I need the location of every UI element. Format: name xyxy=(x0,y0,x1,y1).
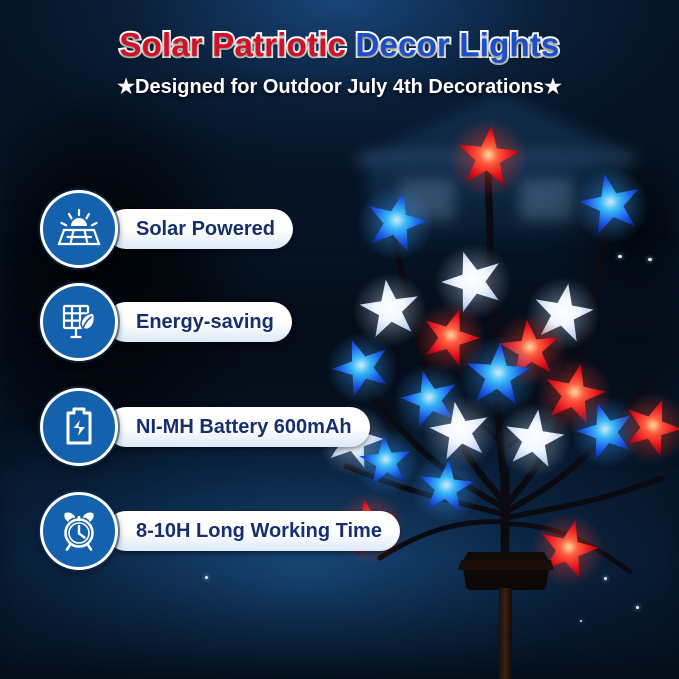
feature-label-pill: Energy-saving xyxy=(106,302,292,342)
feature-badge-working-time[interactable]: 8-10H Long Working Time xyxy=(40,492,400,570)
feature-label-text: Energy-saving xyxy=(136,311,274,334)
star-light-red xyxy=(448,118,528,198)
feature-badge-solar-powered[interactable]: Solar Powered xyxy=(40,190,293,268)
star-light-blue xyxy=(411,453,481,523)
feature-label-text: Solar Powered xyxy=(136,218,275,241)
star-light-tree-product xyxy=(318,110,679,679)
solar-panel-base xyxy=(458,552,554,590)
title-red-part: Solar Patriotic xyxy=(119,26,346,63)
product-marketing-image: Solar Patriotic Decor Lights ★Designed f… xyxy=(0,0,679,679)
star-light-blue xyxy=(358,185,434,261)
title-blue-part: Decor Lights xyxy=(356,26,560,63)
feature-badge-battery[interactable]: NI-MH Battery 600mAh xyxy=(40,388,370,466)
alarm-clock-icon xyxy=(40,492,118,570)
feature-label-text: 8-10H Long Working Time xyxy=(136,520,382,543)
feature-badge-energy-saving[interactable]: Energy-saving xyxy=(40,283,292,361)
feature-label-text: NI-MH Battery 600mAh xyxy=(136,416,352,439)
feature-label-pill: Solar Powered xyxy=(106,209,293,249)
page-subtitle: ★Designed for Outdoor July 4th Decoratio… xyxy=(0,74,679,99)
star-light-blue xyxy=(573,167,649,243)
battery-bolt-icon xyxy=(40,388,118,466)
solar-panel-sun-icon xyxy=(40,190,118,268)
feature-label-pill: 8-10H Long Working Time xyxy=(106,511,400,551)
page-title: Solar Patriotic Decor Lights xyxy=(0,26,679,64)
solar-panel-leaf-icon xyxy=(40,283,118,361)
star-light-white xyxy=(497,403,571,477)
ground-stake xyxy=(499,588,512,679)
feature-label-pill: NI-MH Battery 600mAh xyxy=(106,407,370,447)
sparkle xyxy=(205,576,208,579)
